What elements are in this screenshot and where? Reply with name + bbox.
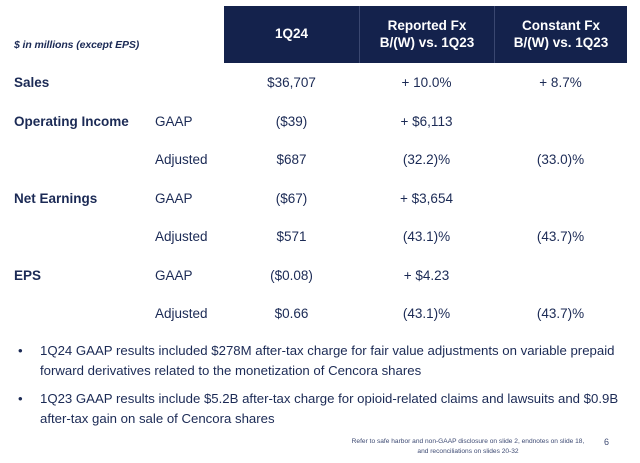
row-basis: Adjusted (155, 227, 208, 247)
table-header-band: 1Q24 Reported Fx B/(W) vs. 1Q23 Constant… (224, 6, 627, 63)
cell-1q24: $36,707 (224, 73, 359, 93)
cell-1q24: $0.66 (224, 304, 359, 324)
cell-reported-fx: + $4.23 (359, 266, 494, 286)
row-label: Net Earnings (14, 189, 97, 209)
list-item: • 1Q24 GAAP results included $278M after… (0, 341, 640, 380)
table-header-reported-fx-line1: Reported Fx (388, 18, 467, 33)
bullet-icon: • (18, 389, 23, 409)
table-header-1q24: 1Q24 (224, 6, 359, 63)
list-item-text: 1Q23 GAAP results include $5.2B after-ta… (40, 391, 618, 426)
table-header-1q24-line1: 1Q24 (275, 26, 308, 41)
row-basis: GAAP (155, 112, 193, 132)
table-row: Net Earnings GAAP ($67) + $3,654 (0, 189, 640, 228)
row-label: Operating Income (14, 112, 129, 132)
table-row: Adjusted $571 (43.1)% (43.7)% (0, 227, 640, 266)
cell-constant-fx: (43.7)% (494, 304, 627, 324)
list-item: • 1Q23 GAAP results include $5.2B after-… (0, 389, 640, 428)
row-basis: GAAP (155, 266, 193, 286)
table-row: Operating Income GAAP ($39) + $6,113 (0, 112, 640, 151)
page-number: 6 (604, 437, 609, 447)
row-label: Sales (14, 73, 49, 93)
cell-reported-fx: + 10.0% (359, 73, 494, 93)
table-row: Sales $36,707 + 10.0% + 8.7% (0, 73, 640, 112)
table-header-constant-fx-line1: Constant Fx (522, 18, 600, 33)
cell-reported-fx: (43.1)% (359, 304, 494, 324)
financial-table: Sales $36,707 + 10.0% + 8.7% Operating I… (0, 73, 640, 343)
cell-1q24: $687 (224, 150, 359, 170)
bullet-list: • 1Q24 GAAP results included $278M after… (0, 341, 640, 437)
table-row: Adjusted $0.66 (43.1)% (43.7)% (0, 304, 640, 343)
cell-reported-fx: + $6,113 (359, 112, 494, 132)
table-header-reported-fx-line2: B/(W) vs. 1Q23 (380, 35, 475, 52)
cell-1q24: ($39) (224, 112, 359, 132)
table-header-reported-fx: Reported Fx B/(W) vs. 1Q23 (359, 6, 494, 63)
cell-constant-fx: + 8.7% (494, 73, 627, 93)
cell-constant-fx: (43.7)% (494, 227, 627, 247)
cell-reported-fx: + $3,654 (359, 189, 494, 209)
footer-disclosure-note: Refer to safe harbor and non-GAAP disclo… (348, 437, 588, 456)
table-header-constant-fx-line2: B/(W) vs. 1Q23 (514, 35, 609, 52)
cell-1q24: ($67) (224, 189, 359, 209)
row-basis: Adjusted (155, 150, 208, 170)
row-basis: GAAP (155, 189, 193, 209)
bullet-icon: • (18, 341, 23, 361)
units-caption: $ in millions (except EPS) (14, 39, 139, 51)
row-label: EPS (14, 266, 41, 286)
list-item-text: 1Q24 GAAP results included $278M after-t… (40, 343, 614, 378)
table-row: EPS GAAP ($0.08) + $4.23 (0, 266, 640, 305)
table-header-constant-fx: Constant Fx B/(W) vs. 1Q23 (494, 6, 627, 63)
row-basis: Adjusted (155, 304, 208, 324)
cell-constant-fx: (33.0)% (494, 150, 627, 170)
cell-reported-fx: (43.1)% (359, 227, 494, 247)
cell-reported-fx: (32.2)% (359, 150, 494, 170)
cell-1q24: $571 (224, 227, 359, 247)
cell-1q24: ($0.08) (224, 266, 359, 286)
table-row: Adjusted $687 (32.2)% (33.0)% (0, 150, 640, 189)
